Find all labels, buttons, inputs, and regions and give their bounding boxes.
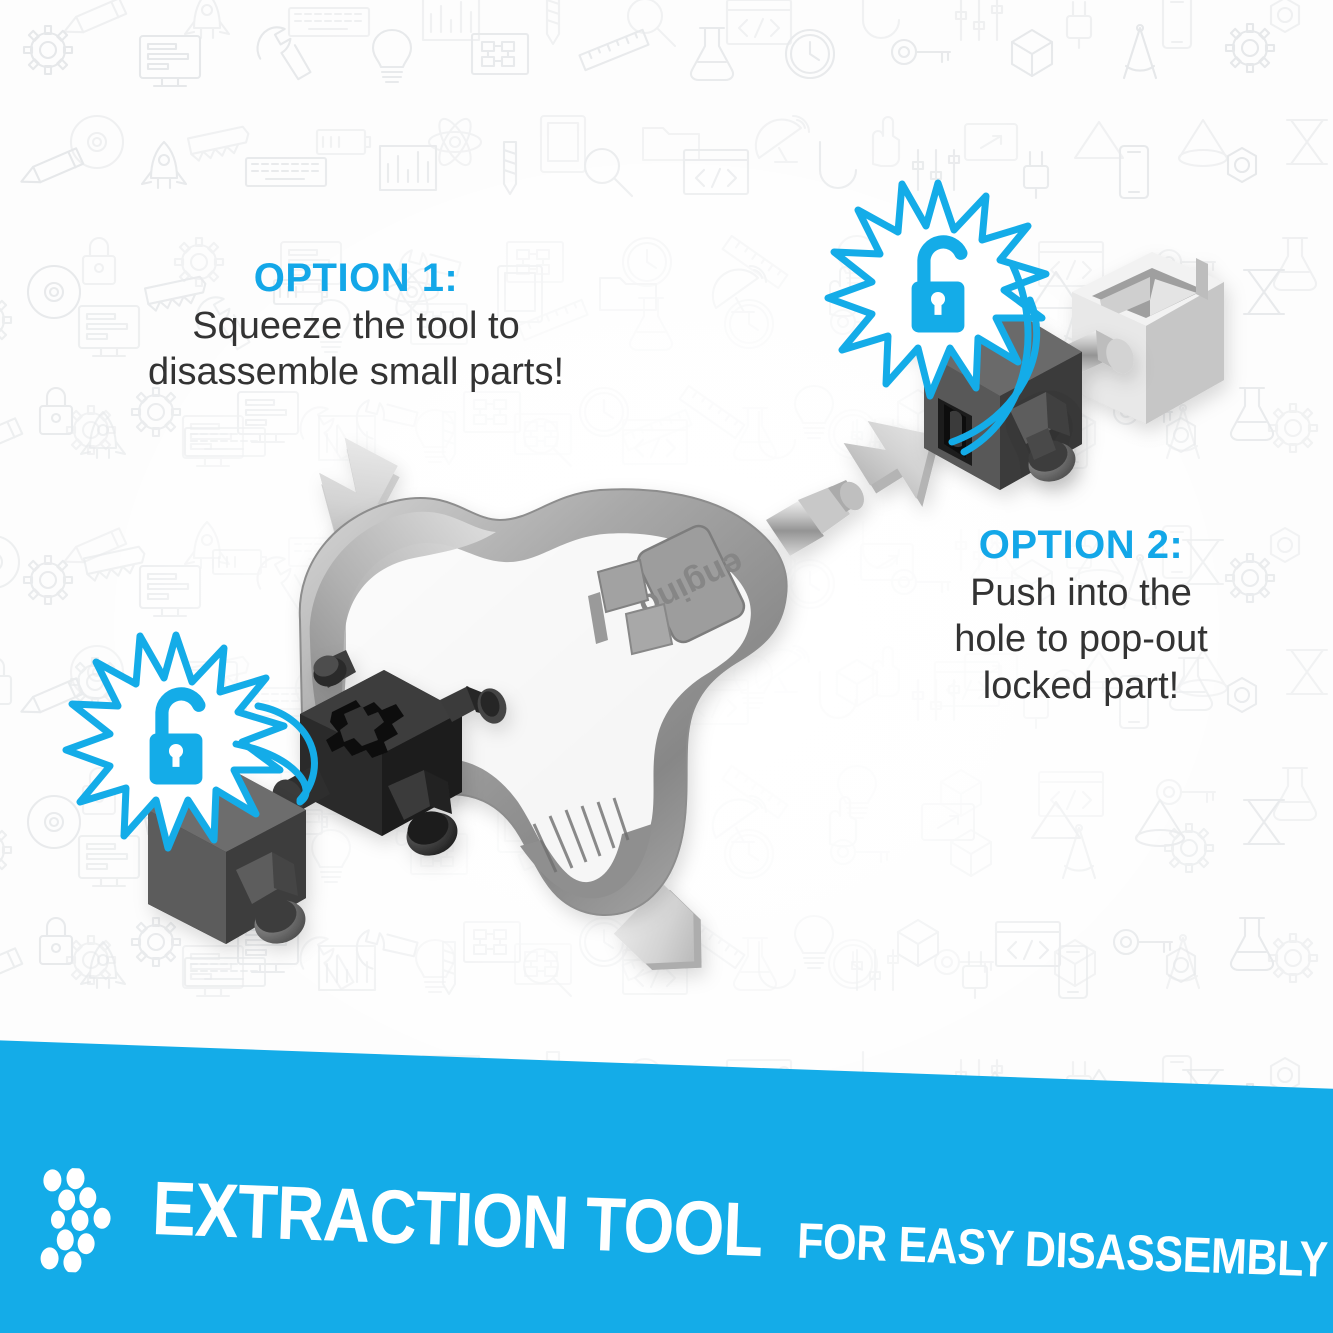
callout-option-1: OPTION 1: Squeeze the tool to disassembl…	[88, 256, 624, 396]
callout-option-2: OPTION 2: Push into the hole to pop-out …	[912, 523, 1250, 709]
option-1-heading: OPTION 1:	[88, 256, 624, 301]
option-2-line-1: Push into the	[912, 570, 1250, 616]
option-2-line-3: locked part!	[912, 663, 1250, 709]
option-1-line-1: Squeeze the tool to	[88, 303, 624, 349]
option-2-line-2: hole to pop-out	[912, 616, 1250, 662]
option-2-heading: OPTION 2:	[912, 523, 1250, 568]
bottom-banner	[0, 1040, 1333, 1333]
infographic-canvas: engino	[0, 0, 1333, 1333]
option-1-line-2: disassemble small parts!	[88, 349, 624, 395]
